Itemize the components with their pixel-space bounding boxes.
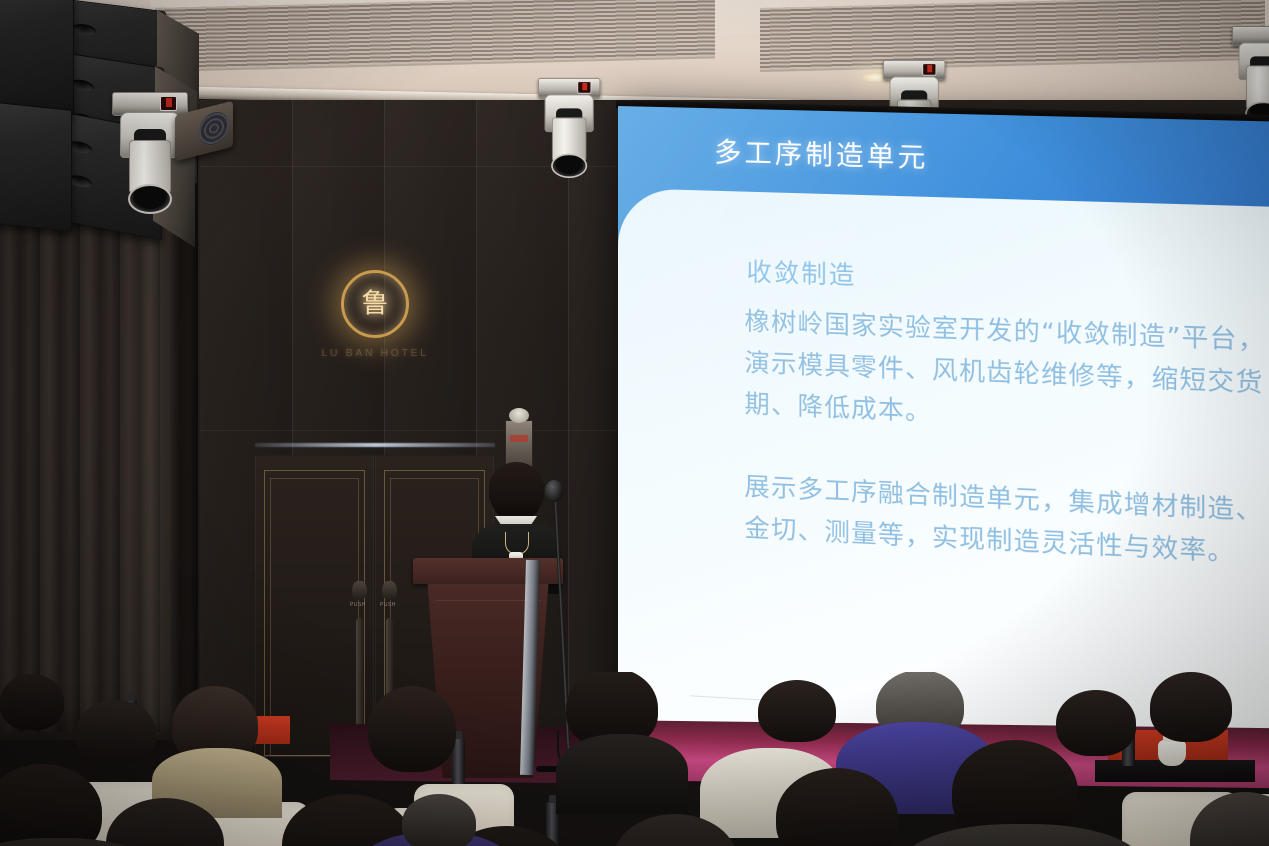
audience-head <box>368 686 456 772</box>
audience-shoulders <box>556 734 688 814</box>
slide: 多工序制造单元 收敛制造 橡树岭国家实验室开发的“收敛制造”平台，演示模具零件、… <box>618 106 1269 768</box>
hotel-logo: 鲁 LU BAN HOTEL <box>315 270 435 380</box>
audience-head <box>0 674 64 730</box>
microphone-icon <box>545 480 563 502</box>
slide-paragraph-1: 橡树岭国家实验室开发的“收敛制造”平台，演示模具零件、风机齿轮维修等，缩短交货期… <box>744 300 1269 447</box>
door-header-light <box>255 443 495 447</box>
door-knob-right[interactable] <box>382 581 397 600</box>
conference-room-photo: 鲁 LU BAN HOTEL PUSH PUSH 多工序制造单元 收敛制造 橡树… <box>0 0 1269 846</box>
audience-head <box>758 680 836 742</box>
door-knob-left[interactable] <box>352 581 367 600</box>
slide-heading: 收敛制造 <box>746 252 856 292</box>
teacup <box>1158 740 1186 766</box>
audience-head <box>0 764 102 846</box>
audience-head <box>1150 672 1232 742</box>
hvac-grille-right <box>760 0 1265 72</box>
slide-paragraph-2: 展示多工序融合制造单元，集成增材制造、金切、测量等，实现制造灵活性与效率。 <box>744 466 1269 575</box>
audience-shoulders <box>900 824 1144 846</box>
presenter-hair <box>489 462 544 514</box>
line-array-speaker-stack <box>0 0 236 360</box>
wall-seam <box>200 430 630 431</box>
hotel-name-text: LU BAN HOTEL <box>315 347 435 359</box>
logo-glyph: 鲁 <box>362 291 389 318</box>
audience-head <box>76 700 156 764</box>
door-push-label-left: PUSH <box>350 602 366 608</box>
door-push-label-right: PUSH <box>380 602 396 608</box>
logo-ring-icon: 鲁 <box>341 270 409 338</box>
hvac-grille-left <box>155 0 715 72</box>
audience <box>0 672 1269 846</box>
audience-head <box>402 794 476 846</box>
audience-head <box>1056 690 1136 756</box>
speaker-cabinet <box>0 98 72 232</box>
speaker-cabinet <box>0 0 74 116</box>
slide-title: 多工序制造单元 <box>714 130 928 175</box>
projection-screen: 多工序制造单元 收敛制造 橡树岭国家实验室开发的“收敛制造”平台，演示模具零件、… <box>618 106 1269 768</box>
